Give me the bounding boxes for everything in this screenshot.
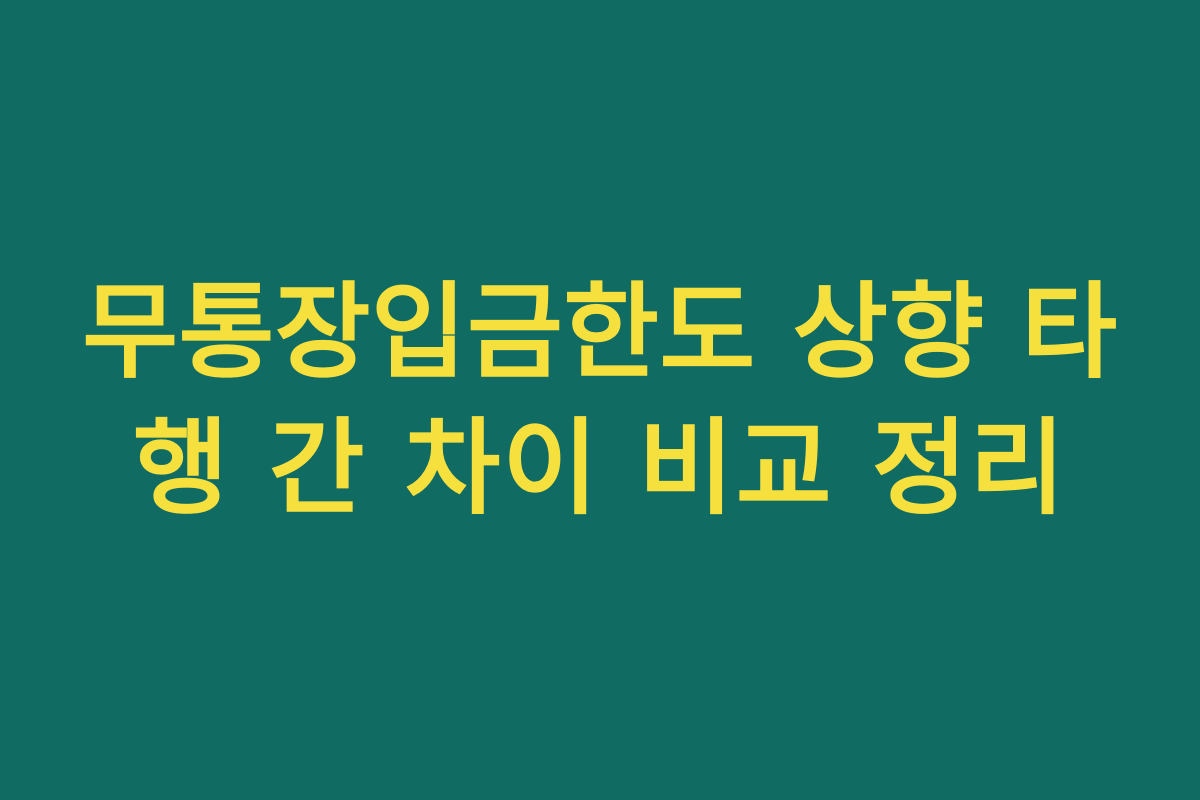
headline-card: 무통장입금한도 상향 타 행 간 차이 비교 정리 [0,0,1200,800]
headline-text-block: 무통장입금한도 상향 타 행 간 차이 비교 정리 [55,264,1145,536]
headline-line-1: 무통장입금한도 상향 타 [55,264,1145,400]
headline-line-2: 행 간 차이 비교 정리 [55,400,1145,536]
